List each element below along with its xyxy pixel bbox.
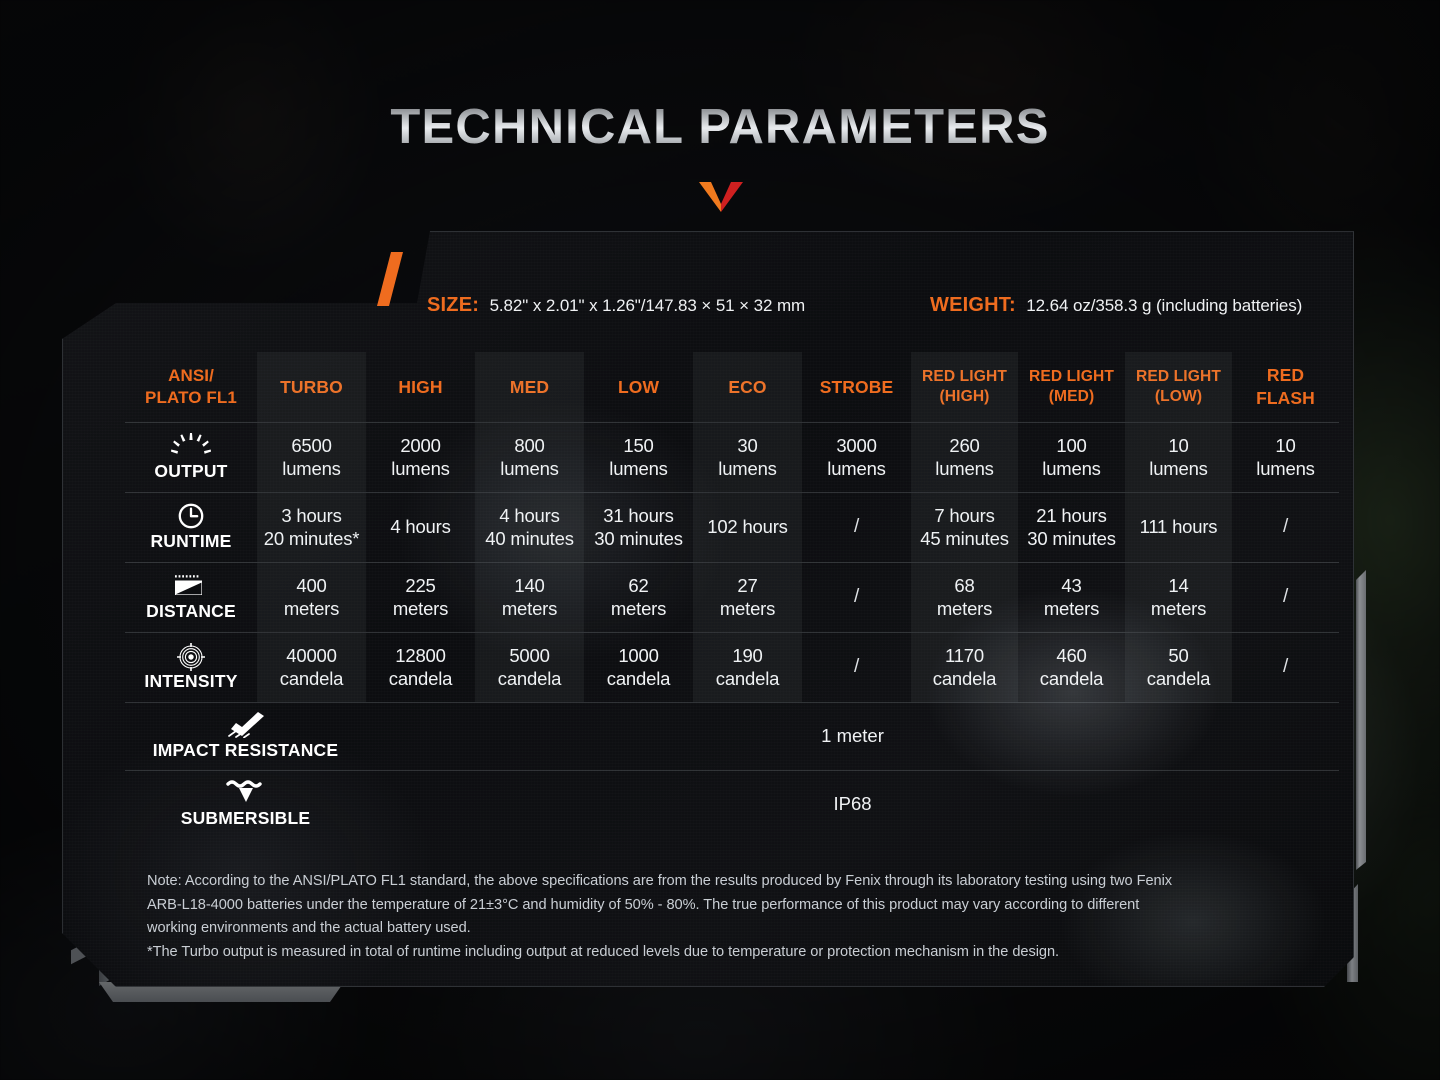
row-label-intensity: INTENSITY <box>125 632 257 702</box>
cell-runtime-red_low: 111 hours <box>1125 492 1232 562</box>
table-body: OUTPUT6500lumens2000lumens800lumens150lu… <box>125 422 1339 838</box>
cell-value: 62meters <box>584 574 693 620</box>
cell-output-eco: 30lumens <box>693 422 802 492</box>
specification-table-wrap: ANSI/PLATO FL1TURBOHIGHMEDLOWECOSTROBERE… <box>125 352 1338 838</box>
cell-distance-red_med: 43meters <box>1018 562 1125 632</box>
row-label-text: INTENSITY <box>144 671 237 692</box>
cell-intensity-turbo: 40000candela <box>257 632 366 702</box>
table-header: ANSI/PLATO FL1TURBOHIGHMEDLOWECOSTROBERE… <box>125 352 1339 422</box>
table-row: INTENSITY40000candela12800candela5000can… <box>125 632 1339 702</box>
table-row-submersible: SUBMERSIBLEIP68 <box>125 770 1339 838</box>
column-header-label: ECO <box>693 376 802 398</box>
cell-value: / <box>1232 515 1339 539</box>
cell-value: 40000candela <box>257 644 366 690</box>
column-header-label: MED <box>475 376 584 398</box>
table-row: RUNTIME3 hours20 minutes*4 hours4 hours4… <box>125 492 1339 562</box>
cell-value: 30lumens <box>693 434 802 480</box>
beam-distance-icon <box>174 573 208 599</box>
column-header-label: ANSI/PLATO FL1 <box>125 352 257 422</box>
cell-value: 1000candela <box>584 644 693 690</box>
column-header-red_low: RED LIGHT(LOW) <box>1125 352 1232 422</box>
cell-runtime-med: 4 hours40 minutes <box>475 492 584 562</box>
column-header-label: LOW <box>584 376 693 398</box>
table-row: DISTANCE400meters225meters140meters62met… <box>125 562 1339 632</box>
cell-value: / <box>802 585 911 609</box>
cell-value: 100lumens <box>1018 434 1125 480</box>
cell-distance-strobe: / <box>802 562 911 632</box>
submersible-icon <box>226 780 266 806</box>
right-accent-bar <box>1356 570 1366 870</box>
row-label-text: IMPACT RESISTANCE <box>153 740 339 761</box>
cell-output-red_med: 100lumens <box>1018 422 1125 492</box>
cell-intensity-red_flash: / <box>1232 632 1339 702</box>
cell-value: / <box>802 655 911 679</box>
cell-value: 225meters <box>366 574 475 620</box>
weight-value: 12.64 oz/358.3 g (including batteries) <box>1026 296 1302 315</box>
size-label: SIZE: <box>427 294 479 316</box>
cell-value: 3 hours20 minutes* <box>257 504 366 550</box>
cell-intensity-med: 5000candela <box>475 632 584 702</box>
cell-output-red_high: 260lumens <box>911 422 1018 492</box>
specification-table: ANSI/PLATO FL1TURBOHIGHMEDLOWECOSTROBERE… <box>125 352 1339 838</box>
column-header-turbo: TURBO <box>257 352 366 422</box>
table-header-row: ANSI/PLATO FL1TURBOHIGHMEDLOWECOSTROBERE… <box>125 352 1339 422</box>
impact-arrow-icon <box>227 712 265 738</box>
column-header-high: HIGH <box>366 352 475 422</box>
cell-runtime-red_flash: / <box>1232 492 1339 562</box>
cell-value: 12800candela <box>366 644 475 690</box>
cell-value: 43meters <box>1018 574 1125 620</box>
clock-icon <box>178 503 204 529</box>
row-label-distance: DISTANCE <box>125 562 257 632</box>
cell-intensity-red_med: 460candela <box>1018 632 1125 702</box>
cell-distance-med: 140meters <box>475 562 584 632</box>
cell-output-low: 150lumens <box>584 422 693 492</box>
cell-value: 6500lumens <box>257 434 366 480</box>
column-header-low: LOW <box>584 352 693 422</box>
cell-value: 7 hours45 minutes <box>911 504 1018 550</box>
cell-value: 150lumens <box>584 434 693 480</box>
cell-value: 1170candela <box>911 644 1018 690</box>
sun-rays-icon <box>171 433 211 459</box>
cell-value: 140meters <box>475 574 584 620</box>
chevron-down-icon <box>699 182 743 212</box>
row-label-output: OUTPUT <box>125 422 257 492</box>
cell-output-high: 2000lumens <box>366 422 475 492</box>
cell-distance-turbo: 400meters <box>257 562 366 632</box>
cell-value: 460candela <box>1018 644 1125 690</box>
size-spec: SIZE: 5.82" x 2.01" x 1.26"/147.83 × 51 … <box>427 294 805 317</box>
cell-value: 2000lumens <box>366 434 475 480</box>
cell-value: 10lumens <box>1125 434 1232 480</box>
weight-label: WEIGHT: <box>930 294 1016 316</box>
table-row-impact: IMPACT RESISTANCE1 meter <box>125 702 1339 770</box>
cell-value: IP68 <box>366 793 1339 815</box>
cell-runtime-red_high: 7 hours45 minutes <box>911 492 1018 562</box>
cell-distance-eco: 27meters <box>693 562 802 632</box>
cell-runtime-high: 4 hours <box>366 492 475 562</box>
cell-submersible-value: IP68 <box>366 770 1339 838</box>
cell-intensity-red_high: 1170candela <box>911 632 1018 702</box>
cell-distance-low: 62meters <box>584 562 693 632</box>
column-header-label: TURBO <box>257 376 366 398</box>
cell-value: 21 hours30 minutes <box>1018 504 1125 550</box>
cell-value: 260lumens <box>911 434 1018 480</box>
cell-intensity-eco: 190candela <box>693 632 802 702</box>
target-rings-icon <box>177 643 205 669</box>
cell-value: 27meters <box>693 574 802 620</box>
footnote-line-3: working environments and the actual batt… <box>147 917 1337 941</box>
cell-value: 31 hours30 minutes <box>584 504 693 550</box>
row-label-text: DISTANCE <box>146 601 236 622</box>
column-header-label: RED LIGHT(HIGH) <box>911 367 1018 407</box>
cell-value: 102 hours <box>693 515 802 538</box>
cell-output-red_low: 10lumens <box>1125 422 1232 492</box>
column-header-label: REDFLASH <box>1232 364 1339 409</box>
cell-intensity-low: 1000candela <box>584 632 693 702</box>
row-label-text: RUNTIME <box>150 531 231 552</box>
row-label-submersible: SUBMERSIBLE <box>125 770 366 838</box>
column-header-label: HIGH <box>366 376 475 398</box>
page-title: TECHNICAL PARAMETERS <box>0 99 1440 155</box>
cell-value: 4 hours40 minutes <box>475 504 584 550</box>
column-header-label: RED LIGHT(MED) <box>1018 367 1125 407</box>
cell-distance-high: 225meters <box>366 562 475 632</box>
cell-runtime-low: 31 hours30 minutes <box>584 492 693 562</box>
size-weight-strip: SIZE: 5.82" x 2.01" x 1.26"/147.83 × 51 … <box>62 294 1354 324</box>
column-header-strobe: STROBE <box>802 352 911 422</box>
size-value: 5.82" x 2.01" x 1.26"/147.83 × 51 × 32 m… <box>490 296 806 315</box>
cell-value: 800lumens <box>475 434 584 480</box>
cell-runtime-red_med: 21 hours30 minutes <box>1018 492 1125 562</box>
row-label-text: OUTPUT <box>154 461 227 482</box>
cell-value: / <box>1232 585 1339 609</box>
cell-value: 50candela <box>1125 644 1232 690</box>
row-label-text: SUBMERSIBLE <box>181 808 311 829</box>
cell-distance-red_low: 14meters <box>1125 562 1232 632</box>
cell-value: 10lumens <box>1232 434 1339 480</box>
cell-distance-red_high: 68meters <box>911 562 1018 632</box>
table-row: OUTPUT6500lumens2000lumens800lumens150lu… <box>125 422 1339 492</box>
cell-value: / <box>1232 655 1339 679</box>
column-header-label: STROBE <box>802 376 911 398</box>
column-header-red_med: RED LIGHT(MED) <box>1018 352 1125 422</box>
cell-distance-red_flash: / <box>1232 562 1339 632</box>
cell-value: 14meters <box>1125 574 1232 620</box>
cell-intensity-red_low: 50candela <box>1125 632 1232 702</box>
cell-impact-value: 1 meter <box>366 702 1339 770</box>
cell-output-red_flash: 10lumens <box>1232 422 1339 492</box>
column-header-label: RED LIGHT(LOW) <box>1125 367 1232 407</box>
row-label-impact: IMPACT RESISTANCE <box>125 702 366 770</box>
column-header-red_high: RED LIGHT(HIGH) <box>911 352 1018 422</box>
cell-intensity-high: 12800candela <box>366 632 475 702</box>
column-header-red_flash: REDFLASH <box>1232 352 1339 422</box>
footnote-line-4: *The Turbo output is measured in total o… <box>147 941 1337 965</box>
row-label-runtime: RUNTIME <box>125 492 257 562</box>
cell-value: 111 hours <box>1125 515 1232 538</box>
cell-intensity-strobe: / <box>802 632 911 702</box>
column-header-label: ANSI/PLATO FL1 <box>125 365 257 409</box>
cell-runtime-turbo: 3 hours20 minutes* <box>257 492 366 562</box>
cell-value: 190candela <box>693 644 802 690</box>
column-header-eco: ECO <box>693 352 802 422</box>
cell-runtime-eco: 102 hours <box>693 492 802 562</box>
cell-value: 400meters <box>257 574 366 620</box>
footnote-line-2: ARB-L18-4000 batteries under the tempera… <box>147 894 1337 918</box>
footnote-line-1: Note: According to the ANSI/PLATO FL1 st… <box>147 870 1337 894</box>
cell-value: 1 meter <box>366 725 1339 747</box>
column-header-med: MED <box>475 352 584 422</box>
cell-output-strobe: 3000lumens <box>802 422 911 492</box>
weight-spec: WEIGHT: 12.64 oz/358.3 g (including batt… <box>930 294 1302 317</box>
cell-output-med: 800lumens <box>475 422 584 492</box>
cell-value: / <box>802 515 911 539</box>
cell-output-turbo: 6500lumens <box>257 422 366 492</box>
cell-value: 68meters <box>911 574 1018 620</box>
cell-value: 4 hours <box>366 515 475 538</box>
footnote: Note: According to the ANSI/PLATO FL1 st… <box>147 870 1337 965</box>
cell-runtime-strobe: / <box>802 492 911 562</box>
cell-value: 5000candela <box>475 644 584 690</box>
cell-value: 3000lumens <box>802 434 911 480</box>
